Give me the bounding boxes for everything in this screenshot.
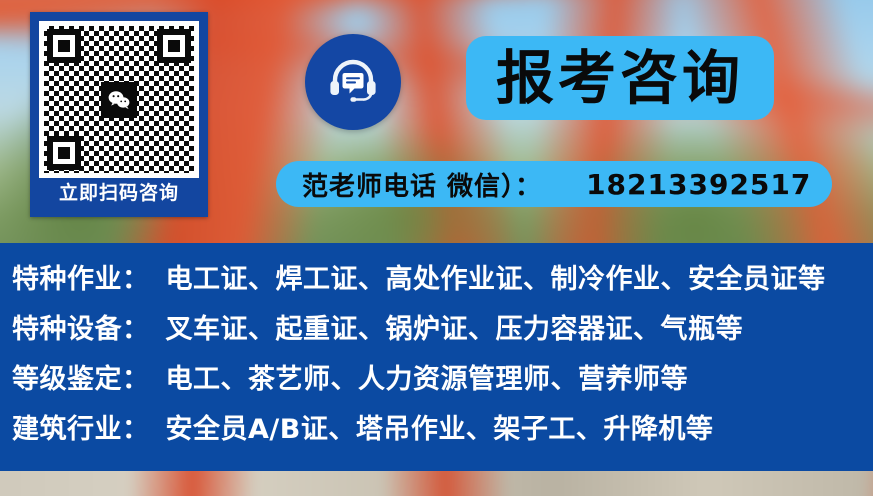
list-item: 等级鉴定： 电工、茶艺师、人力资源管理师、营养师等: [0, 357, 873, 407]
qr-finder-top-left: [47, 29, 81, 63]
qr-code-frame: [39, 21, 199, 178]
page-title: 报考咨询: [496, 49, 744, 107]
category-value: 安全员A/B证、塔吊作业、架子工、升降机等: [166, 407, 714, 446]
category-value: 电工、茶艺师、人力资源管理师、营养师等: [166, 357, 689, 396]
contact-label: 范老师电话 微信）：: [302, 166, 542, 203]
list-item: 建筑行业： 安全员A/B证、塔吊作业、架子工、升降机等: [0, 407, 873, 457]
qr-finder-bottom-left: [47, 136, 81, 170]
list-item: 特种作业： 电工证、焊工证、高处作业证、制冷作业、安全员证等: [0, 257, 873, 307]
page-title-badge: 报考咨询: [466, 36, 774, 120]
wechat-icon: [101, 82, 137, 118]
category-label: 特种作业：: [12, 257, 150, 296]
qr-code-image[interactable]: [44, 26, 194, 173]
category-list-panel: 特种作业： 电工证、焊工证、高处作业证、制冷作业、安全员证等 特种设备： 叉车证…: [0, 243, 873, 471]
category-label: 等级鉴定：: [12, 357, 150, 396]
headset-support-icon: [305, 34, 401, 130]
qr-code-card[interactable]: 立即扫码咨询: [30, 12, 208, 217]
category-value: 电工证、焊工证、高处作业证、制冷作业、安全员证等: [166, 257, 826, 296]
category-label: 特种设备：: [12, 307, 150, 346]
category-value: 叉车证、起重证、锅炉证、压力容器证、气瓶等: [166, 307, 744, 346]
contact-phone-number[interactable]: 18213392517: [586, 168, 811, 201]
category-label: 建筑行业：: [12, 407, 150, 446]
list-item: 特种设备： 叉车证、起重证、锅炉证、压力容器证、气瓶等: [0, 307, 873, 357]
qr-finder-top-right: [157, 29, 191, 63]
qr-code-label: 立即扫码咨询: [33, 176, 205, 210]
footer-background-photo: [0, 471, 873, 496]
contact-phone-bar[interactable]: 范老师电话 微信）： 18213392517: [276, 161, 832, 207]
footer-photo-strip: [0, 471, 873, 496]
promo-poster: 立即扫码咨询 报考咨询 范老师电话 微信）： 18213392517 特种作业：…: [0, 0, 873, 496]
